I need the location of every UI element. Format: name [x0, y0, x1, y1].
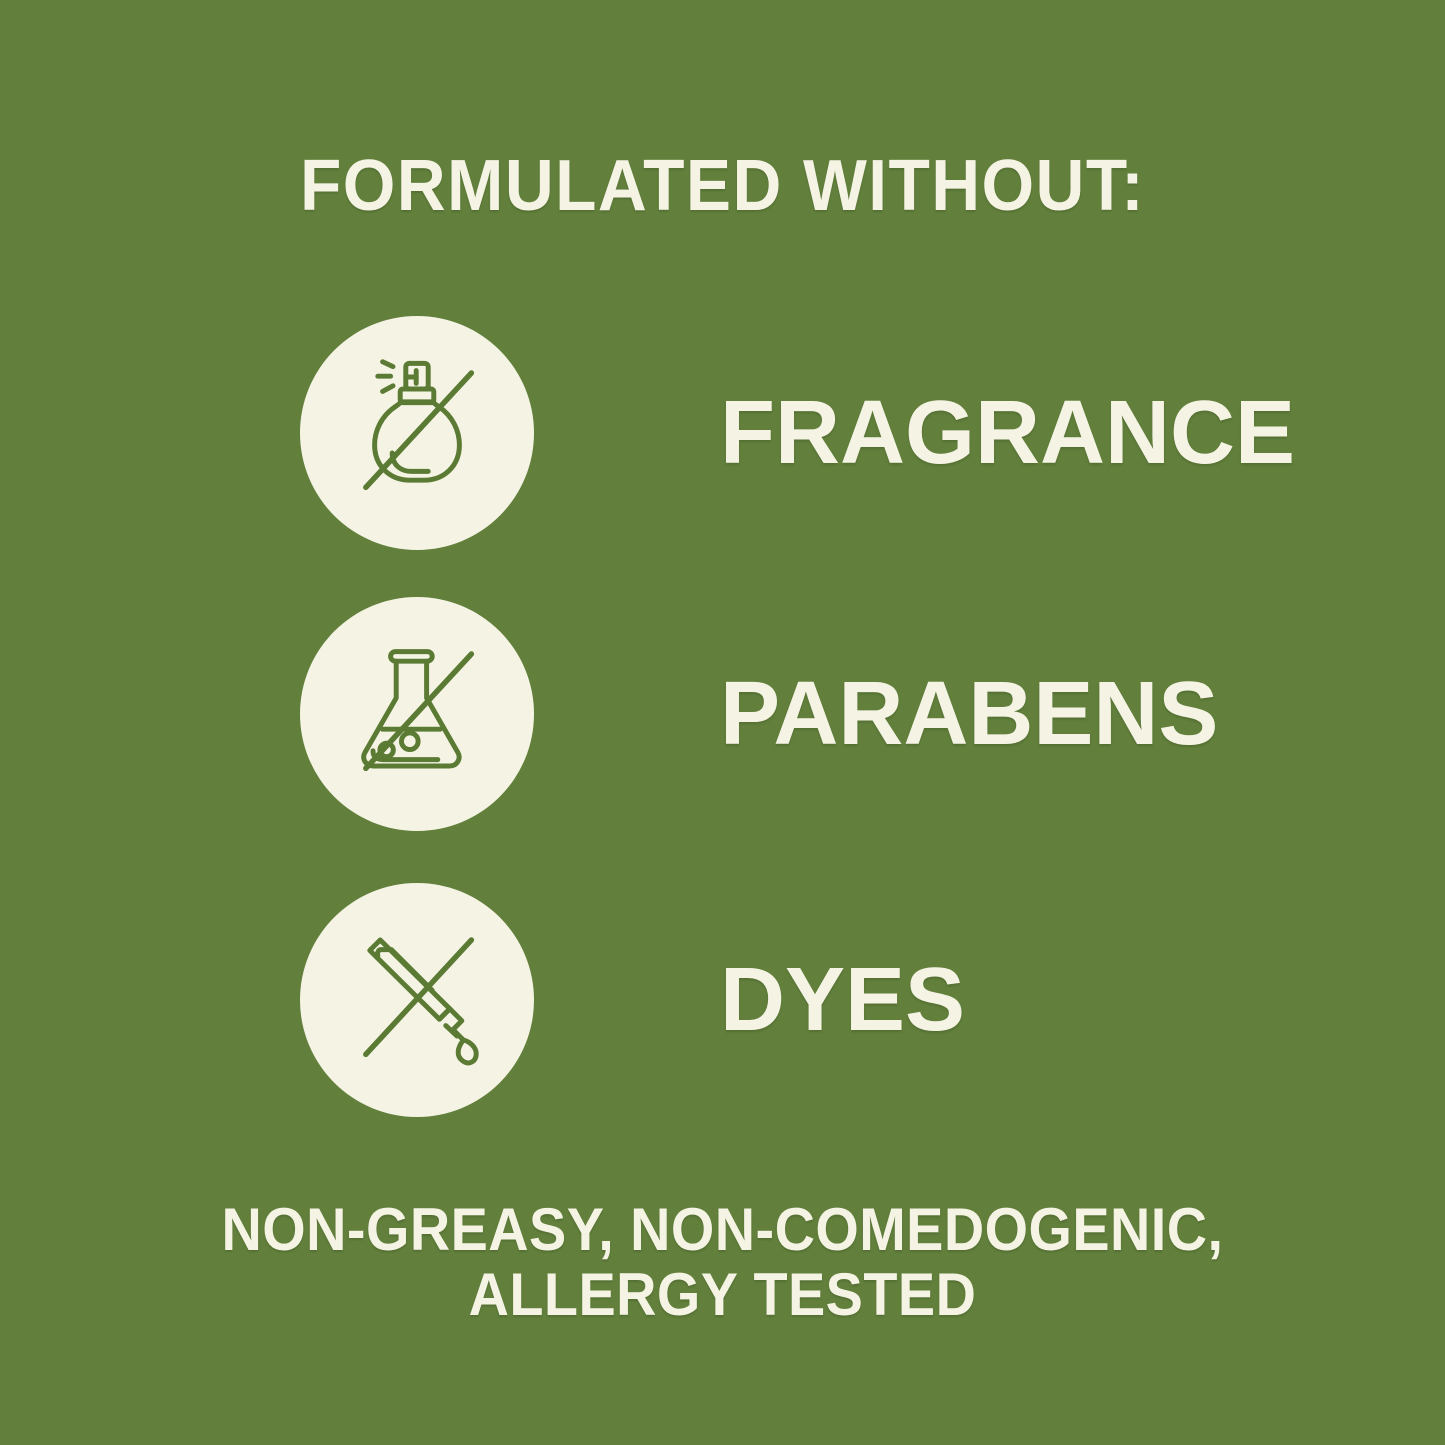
list-item-dyes: DYES [300, 883, 1300, 1117]
no-fragrance-bottle-icon [337, 353, 497, 513]
list-item-label-fragrance: FRAGRANCE [720, 388, 1295, 478]
list-item-label-parabens: PARABENS [720, 669, 1218, 759]
no-dropper-icon [337, 920, 497, 1080]
footer-line-2: ALLERGY TESTED [51, 1263, 1395, 1328]
formulated-without-poster: FORMULATED WITHOUT: [0, 0, 1445, 1445]
list-item-fragrance: FRAGRANCE [300, 316, 1300, 550]
footer-line-1: NON-GREASY, NON-COMEDOGENIC, [51, 1198, 1395, 1263]
badge-parabens [300, 597, 534, 831]
no-chemical-flask-icon [337, 634, 497, 794]
badge-dyes [300, 883, 534, 1117]
badge-fragrance [300, 316, 534, 550]
list-item-label-dyes: DYES [720, 955, 965, 1045]
list-item-parabens: PARABENS [300, 597, 1300, 831]
footer-claims: NON-GREASY, NON-COMEDOGENIC, ALLERGY TES… [51, 1198, 1395, 1328]
